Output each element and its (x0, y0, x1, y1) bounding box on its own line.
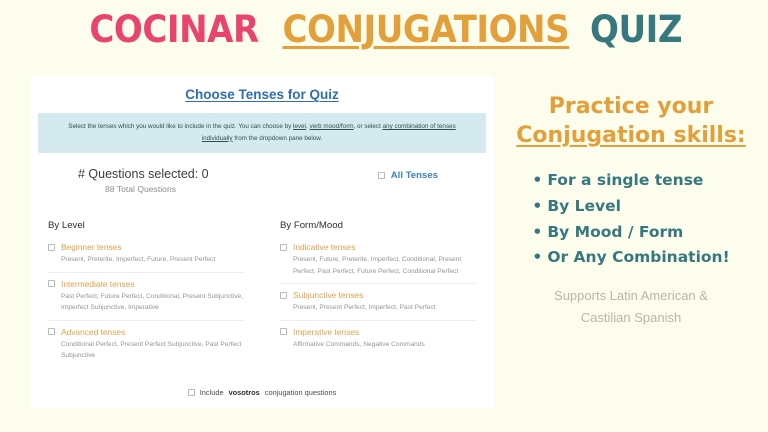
all-tenses-label: All Tenses (391, 170, 438, 181)
promo-bullet-label: Or Any Combination! (547, 248, 729, 266)
info-text-part3: , or select (354, 123, 383, 130)
promo-bullet-item: •By Level (532, 194, 729, 220)
title-word-conjugations: CONJUGATIONS (283, 8, 570, 51)
page-title: COCINAR CONJUGATIONS QUIZ (0, 8, 768, 51)
tense-label-indicative: Indicative tenses (293, 242, 355, 252)
tense-group-imperative: Imperative tenses Affirmative Commands, … (280, 327, 476, 357)
info-link-mood-form[interactable]: verb mood/form (309, 123, 353, 130)
all-tenses-checkbox[interactable]: All Tenses (378, 170, 438, 181)
total-questions-label: 88 Total Questions (105, 184, 176, 194)
promo-footer-line2: Castilian Spanish (500, 307, 762, 329)
tense-columns: By Level Beginner tenses Present, Preter… (30, 220, 494, 374)
tense-checkbox-beginner[interactable]: Beginner tenses (48, 242, 244, 252)
tense-list-intermediate: Past Perfect, Future Perfect, Conditiona… (61, 291, 244, 314)
promo-heading: Practice your Conjugation skills: (500, 92, 762, 150)
bullet-icon: • (532, 220, 547, 246)
tense-group-indicative: Indicative tenses Present, Future, Prete… (280, 242, 476, 284)
title-word-quiz: QUIZ (590, 8, 682, 51)
tense-checkbox-subjunctive[interactable]: Subjunctive tenses (280, 290, 476, 300)
vosotros-checkbox[interactable]: Include vosotros conjugation questions (30, 388, 494, 397)
column-heading-by-form-mood: By Form/Mood (280, 220, 476, 231)
promo-bullet-list: •For a single tense •By Level •By Mood /… (532, 168, 729, 271)
promo-footer: Supports Latin American & Castilian Span… (500, 285, 762, 329)
promo-bullet-item: •Or Any Combination! (532, 245, 729, 271)
tense-checkbox-imperative[interactable]: Imperative tenses (280, 327, 476, 337)
vosotros-prefix: Include (200, 388, 224, 397)
tense-label-subjunctive: Subjunctive tenses (293, 290, 363, 300)
tense-list-indicative: Present, Future, Preterite, Imperfect, C… (293, 254, 476, 277)
counts-row: # Questions selected: 0 88 Total Questio… (30, 167, 494, 201)
tense-label-advanced: Advanced tenses (61, 327, 125, 337)
panel-heading: Choose Tenses for Quiz (30, 87, 494, 102)
promo-bullet-label: By Mood / Form (547, 223, 683, 241)
bullet-icon: • (532, 245, 547, 271)
checkbox-icon[interactable] (280, 328, 287, 335)
bullet-icon: • (532, 194, 547, 220)
tense-group-beginner: Beginner tenses Present, Preterite, Impe… (48, 242, 244, 273)
tense-list-advanced: Conditional Perfect, Present Perfect Sub… (61, 339, 244, 362)
promo-bullet-item: •By Mood / Form (532, 220, 729, 246)
tense-checkbox-indicative[interactable]: Indicative tenses (280, 242, 476, 252)
promo-footer-line1: Supports Latin American & (500, 285, 762, 307)
vosotros-suffix: conjugation questions (265, 388, 337, 397)
promo-heading-line1: Practice your (500, 92, 762, 121)
checkbox-icon[interactable] (280, 292, 287, 299)
checkbox-icon[interactable] (48, 280, 55, 287)
promo-heading-line2: Conjugation skills: (500, 121, 762, 150)
tense-label-imperative: Imperative tenses (293, 327, 359, 337)
promo-panel: Practice your Conjugation skills: •For a… (500, 92, 762, 329)
checkbox-icon[interactable] (378, 172, 385, 179)
promo-bullet-label: By Level (547, 197, 621, 215)
checkbox-icon[interactable] (188, 389, 195, 396)
tense-checkbox-intermediate[interactable]: Intermediate tenses (48, 279, 244, 289)
checkbox-icon[interactable] (48, 244, 55, 251)
column-by-level: By Level Beginner tenses Present, Preter… (30, 220, 262, 374)
tense-group-intermediate: Intermediate tenses Past Perfect, Future… (48, 279, 244, 321)
tense-list-subjunctive: Present, Present Perfect, Imperfect, Pas… (293, 302, 476, 314)
column-by-form-mood: By Form/Mood Indicative tenses Present, … (262, 220, 494, 374)
tense-label-intermediate: Intermediate tenses (61, 279, 135, 289)
tense-list-imperative: Affirmative Commands, Negative Commands (293, 339, 476, 351)
slide-canvas: COCINAR CONJUGATIONS QUIZ Choose Tenses … (0, 0, 768, 432)
info-text-part4: from the dropdown pane below. (233, 135, 323, 142)
quiz-panel: Choose Tenses for Quiz Select the tenses… (30, 76, 494, 408)
tense-group-subjunctive: Subjunctive tenses Present, Present Perf… (280, 290, 476, 321)
checkbox-icon[interactable] (280, 244, 287, 251)
info-box: Select the tenses which you would like t… (38, 113, 486, 153)
questions-selected-label: # Questions selected: 0 (78, 167, 209, 181)
info-link-level[interactable]: level (293, 123, 306, 130)
tense-list-beginner: Present, Preterite, Imperfect, Future, P… (61, 254, 244, 266)
promo-bullet-label: For a single tense (547, 171, 703, 189)
checkbox-icon[interactable] (48, 328, 55, 335)
tense-label-beginner: Beginner tenses (61, 242, 122, 252)
tense-group-advanced: Advanced tenses Conditional Perfect, Pre… (48, 327, 244, 368)
promo-bullet-item: •For a single tense (532, 168, 729, 194)
vosotros-bold: vosotros (229, 388, 260, 397)
tense-checkbox-advanced[interactable]: Advanced tenses (48, 327, 244, 337)
column-heading-by-level: By Level (48, 220, 244, 231)
title-word-cocinar: COCINAR (89, 8, 258, 51)
info-text-part1: Select the tenses which you would like t… (68, 123, 293, 130)
bullet-icon: • (532, 168, 547, 194)
